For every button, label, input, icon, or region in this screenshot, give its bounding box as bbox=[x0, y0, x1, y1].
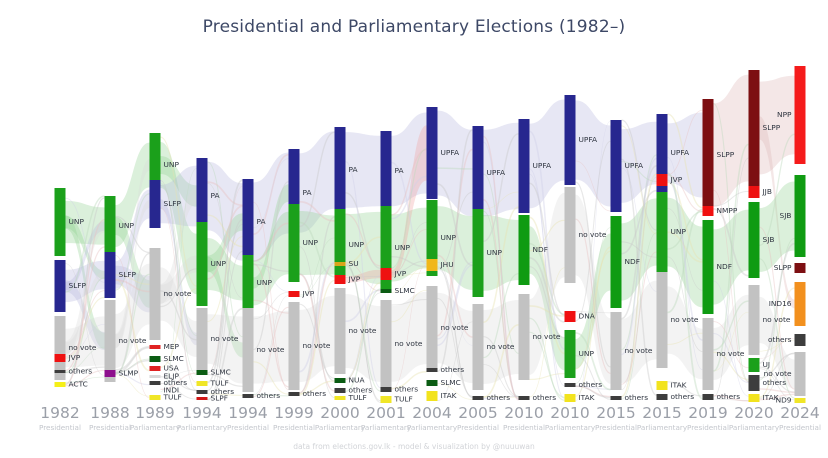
sankey-node-label: SJB bbox=[763, 235, 775, 244]
sankey-node-rect[interactable] bbox=[55, 370, 66, 373]
sankey-node-label: no vote bbox=[441, 323, 469, 332]
sankey-node[interactable]: others bbox=[565, 380, 603, 389]
sankey-node-label: JVP bbox=[348, 275, 361, 284]
sankey-node-label: UPFA bbox=[671, 148, 690, 157]
axis-tick-year: 2024 bbox=[779, 404, 821, 422]
sankey-node[interactable]: others bbox=[473, 393, 511, 402]
sankey-node-rect[interactable] bbox=[150, 248, 161, 340]
axis-tick-type: Presidential bbox=[89, 422, 131, 433]
axis-tick: 2010Parliamentary bbox=[545, 404, 595, 433]
sankey-node[interactable]: ACTC bbox=[55, 380, 88, 389]
sankey-node[interactable]: JVP bbox=[335, 275, 361, 285]
sankey-node-rect[interactable] bbox=[519, 294, 530, 380]
sankey-node-rect[interactable] bbox=[611, 120, 622, 212]
sankey-node-label: UNP bbox=[257, 278, 273, 287]
sankey-node-label: no vote bbox=[763, 315, 791, 324]
sankey-link bbox=[576, 100, 611, 206]
sankey-node-rect[interactable] bbox=[243, 394, 254, 398]
sankey-node-rect[interactable] bbox=[703, 206, 714, 216]
sankey-node-rect[interactable] bbox=[289, 291, 300, 297]
axis-tick-type: Parliamentary bbox=[177, 422, 227, 433]
sankey-node-rect[interactable] bbox=[749, 375, 760, 391]
axis-tick: 1994Presidential bbox=[227, 404, 269, 433]
sankey-node-rect[interactable] bbox=[197, 397, 208, 400]
sankey-node[interactable]: ITAK bbox=[657, 381, 687, 391]
sankey-node-label: UPFA bbox=[487, 168, 506, 177]
sankey-node-label: UNP bbox=[487, 248, 503, 257]
sankey-node-label: others bbox=[69, 367, 93, 376]
sankey-node[interactable]: SLMC bbox=[427, 378, 461, 387]
sankey-node-rect[interactable] bbox=[381, 387, 392, 392]
sankey-node-label: ITAK bbox=[441, 391, 457, 400]
sankey-node-rect[interactable] bbox=[565, 187, 576, 283]
sankey-node-label: no vote bbox=[671, 315, 699, 324]
sankey-node-label: PA bbox=[303, 188, 312, 197]
sankey-node-label: SLMC bbox=[441, 378, 461, 387]
sankey-node-label: UJ bbox=[763, 360, 771, 369]
axis-tick: 2001Parliamentary bbox=[361, 404, 411, 433]
sankey-link bbox=[714, 75, 749, 207]
axis-tick-year: 2000 bbox=[315, 404, 365, 422]
sankey-node-rect[interactable] bbox=[381, 300, 392, 388]
sankey-node-rect[interactable] bbox=[335, 378, 346, 383]
axis-tick: 2004Parliamentary bbox=[407, 404, 457, 433]
sankey-node[interactable]: TULF bbox=[335, 393, 367, 402]
sankey-node-rect[interactable] bbox=[150, 375, 161, 378]
sankey-node[interactable]: TULF bbox=[150, 393, 182, 402]
sankey-node-label: SLPP bbox=[717, 150, 735, 159]
sankey-node-label: no vote bbox=[257, 345, 285, 354]
sankey-node-rect[interactable] bbox=[243, 255, 254, 311]
axis-tick: 1982Presidential bbox=[39, 404, 81, 433]
sankey-node-label: UPFA bbox=[533, 161, 552, 170]
sankey-node-label: no vote bbox=[487, 342, 515, 351]
axis-tick-type: Presidential bbox=[595, 422, 637, 433]
sankey-node-rect[interactable] bbox=[381, 268, 392, 280]
sankey-node-rect[interactable] bbox=[55, 382, 66, 387]
sankey-node-rect[interactable] bbox=[335, 388, 346, 393]
sankey-node[interactable]: ITAK bbox=[565, 393, 595, 402]
sankey-node-label: NPP bbox=[777, 110, 792, 119]
sankey-node-rect[interactable] bbox=[150, 356, 161, 362]
sankey-node-label: others bbox=[487, 393, 511, 402]
sankey-node-rect[interactable] bbox=[749, 285, 760, 355]
sankey-node-label: MEP bbox=[164, 342, 180, 351]
sankey-node[interactable]: TULF bbox=[381, 395, 413, 404]
sankey-node-label: PA bbox=[395, 166, 404, 175]
sankey-node[interactable]: others bbox=[611, 393, 649, 402]
axis-tick: 2005Presidential bbox=[457, 404, 499, 433]
sankey-node-rect[interactable] bbox=[657, 272, 668, 368]
sankey-node-rect[interactable] bbox=[703, 318, 714, 390]
sankey-node-label: ITAK bbox=[579, 393, 595, 402]
sankey-node-rect[interactable] bbox=[795, 352, 806, 396]
axis-tick-type: Presidential bbox=[273, 422, 315, 433]
sankey-node-rect[interactable] bbox=[565, 383, 576, 387]
sankey-node-rect[interactable] bbox=[427, 391, 438, 401]
sankey-node-rect[interactable] bbox=[611, 216, 622, 308]
sankey-node-label: SLMC bbox=[395, 286, 415, 295]
sankey-node-rect[interactable] bbox=[105, 196, 116, 256]
sankey-node-rect[interactable] bbox=[243, 179, 254, 265]
sankey-node-rect[interactable] bbox=[289, 302, 300, 390]
sankey-node-rect[interactable] bbox=[657, 394, 668, 400]
axis-tick: 1989Parliamentary bbox=[130, 404, 180, 433]
sankey-node[interactable]: others bbox=[657, 392, 695, 401]
axis-tick-type: Presidential bbox=[457, 422, 499, 433]
axis-tick-year: 2005 bbox=[457, 404, 499, 422]
sankey-node-label: no vote bbox=[395, 339, 423, 348]
sankey-node-label: UNP bbox=[119, 221, 135, 230]
sankey-node-rect[interactable] bbox=[749, 202, 760, 278]
sankey-node-label: SLMP bbox=[119, 369, 139, 378]
axis-tick: 2024Presidential bbox=[779, 404, 821, 433]
axis-tick-type: Presidential bbox=[503, 422, 545, 433]
sankey-node-label: PA bbox=[257, 217, 266, 226]
axis-tick-type: Parliamentary bbox=[315, 422, 365, 433]
axis-tick-type: Parliamentary bbox=[407, 422, 457, 433]
axis-tick-type: Parliamentary bbox=[130, 422, 180, 433]
sankey-node-label: no vote bbox=[533, 332, 561, 341]
sankey-node-label: JVP bbox=[670, 175, 683, 184]
sankey-node-rect[interactable] bbox=[335, 127, 346, 213]
axis-tick: 2010Presidential bbox=[503, 404, 545, 433]
sankey-node-rect[interactable] bbox=[150, 389, 161, 392]
sankey-node-rect[interactable] bbox=[565, 311, 576, 322]
sankey-node-rect[interactable] bbox=[611, 396, 622, 400]
sankey-node-rect[interactable] bbox=[197, 308, 208, 370]
axis-tick-year: 2015 bbox=[595, 404, 637, 422]
sankey-node-label: others bbox=[763, 378, 787, 387]
sankey-node-rect[interactable] bbox=[381, 289, 392, 293]
axis-tick: 2020Parliamentary bbox=[729, 404, 779, 433]
sankey-node-label: no vote bbox=[69, 343, 97, 352]
sankey-node-label: SU bbox=[349, 259, 359, 268]
sankey-node-rect[interactable] bbox=[197, 390, 208, 394]
sankey-node-rect[interactable] bbox=[197, 370, 208, 375]
sankey-node-rect[interactable] bbox=[55, 188, 66, 256]
sankey-node-label: NMPP bbox=[717, 206, 738, 215]
axis-tick: 2000Parliamentary bbox=[315, 404, 365, 433]
sankey-node-label: DNA bbox=[579, 312, 595, 321]
sankey-node-rect[interactable] bbox=[611, 312, 622, 390]
sankey-node[interactable]: JVP bbox=[289, 289, 315, 298]
sankey-node-label: UNP bbox=[69, 217, 85, 226]
sankey-node-rect[interactable] bbox=[427, 368, 438, 372]
sankey-node[interactable]: DNA bbox=[565, 311, 595, 322]
axis-tick-year: 2019 bbox=[687, 404, 729, 422]
sankey-node-label: JJB bbox=[762, 187, 772, 196]
axis-tick-year: 1982 bbox=[39, 404, 81, 422]
sankey-node-label: NUA bbox=[349, 376, 365, 385]
sankey-node-rect[interactable] bbox=[335, 262, 346, 266]
sankey-link bbox=[530, 100, 565, 209]
sankey-node[interactable]: ITAK bbox=[749, 393, 779, 402]
axis-tick-year: 2020 bbox=[729, 404, 779, 422]
axis-tick: 1994Parliamentary bbox=[177, 404, 227, 433]
sankey-node-label: others bbox=[533, 393, 557, 402]
axis-tick-type: Presidential bbox=[227, 422, 269, 433]
axis-tick-year: 2001 bbox=[361, 404, 411, 422]
axis-tick-year: 2010 bbox=[545, 404, 595, 422]
axis-tick: 2015Parliamentary bbox=[637, 404, 687, 433]
sankey-node-label: others bbox=[303, 389, 327, 398]
sankey-node-label: others bbox=[395, 385, 419, 394]
sankey-node-label: others bbox=[625, 393, 649, 402]
sankey-node-label: SLPF bbox=[211, 394, 229, 403]
sankey-node-label: others bbox=[441, 365, 465, 374]
sankey-node-rect[interactable] bbox=[795, 398, 806, 403]
sankey-node-rect[interactable] bbox=[795, 66, 806, 164]
sankey-node-rect[interactable] bbox=[519, 396, 530, 400]
sankey-node-rect[interactable] bbox=[150, 180, 161, 228]
sankey-node-label: UNP bbox=[579, 349, 595, 358]
sankey-node-rect[interactable] bbox=[657, 192, 668, 272]
sankey-node-rect[interactable] bbox=[105, 252, 116, 298]
sankey-node-label: UPFA bbox=[625, 161, 644, 170]
sankey-node-label: ACTC bbox=[69, 380, 88, 389]
sankey-node-label: UNP bbox=[303, 238, 319, 247]
sankey-node-label: no vote bbox=[764, 369, 792, 378]
sankey-node-rect[interactable] bbox=[473, 126, 484, 220]
sankey-node-label: UNP bbox=[349, 240, 365, 249]
axis-tick: 1988Presidential bbox=[89, 404, 131, 433]
axis-tick-year: 1994 bbox=[177, 404, 227, 422]
axis-tick: 1999Presidential bbox=[273, 404, 315, 433]
sankey-node-label: no vote bbox=[164, 289, 192, 298]
sankey-node-label: SLPP bbox=[774, 263, 792, 272]
sankey-node-rect[interactable] bbox=[703, 99, 714, 211]
sankey-node-label: JHU bbox=[440, 260, 454, 269]
axis-tick-type: Presidential bbox=[779, 422, 821, 433]
sankey-node-label: SLMC bbox=[211, 368, 231, 377]
sankey-node-rect[interactable] bbox=[519, 215, 530, 285]
sankey-node-rect[interactable] bbox=[795, 334, 806, 346]
axis-tick-year: 2004 bbox=[407, 404, 457, 422]
sankey-node-rect[interactable] bbox=[427, 380, 438, 386]
sankey-node-rect[interactable] bbox=[243, 308, 254, 392]
sankey-node-label: no vote bbox=[579, 230, 607, 239]
sankey-node-label: others bbox=[579, 380, 603, 389]
sankey-node-label: TULF bbox=[348, 393, 367, 402]
sankey-node-rect[interactable] bbox=[289, 204, 300, 282]
sankey-node-label: UNP bbox=[441, 233, 457, 242]
sankey-node[interactable]: JVP bbox=[55, 353, 81, 362]
sankey-node-label: TULF bbox=[163, 393, 182, 402]
sankey-node-rect[interactable] bbox=[473, 396, 484, 400]
sankey-node[interactable]: others bbox=[703, 392, 741, 401]
sankey-node-rect[interactable] bbox=[289, 392, 300, 396]
sankey-node-label: NDF bbox=[717, 262, 732, 271]
sankey-node-rect[interactable] bbox=[427, 107, 438, 199]
sankey-node-label: UNP bbox=[395, 243, 411, 252]
sankey-node[interactable]: MEP bbox=[150, 342, 180, 351]
sankey-node-rect[interactable] bbox=[473, 304, 484, 390]
sankey-node-rect[interactable] bbox=[105, 300, 116, 382]
sankey-node-label: ITAK bbox=[671, 381, 687, 390]
axis-tick-type: Presidential bbox=[39, 422, 81, 433]
sankey-node-label: others bbox=[257, 391, 281, 400]
page-title: Presidential and Parliamentary Elections… bbox=[0, 17, 828, 37]
sankey-node-rect[interactable] bbox=[749, 186, 760, 198]
axis-tick-year: 1994 bbox=[227, 404, 269, 422]
sankey-node-rect[interactable] bbox=[795, 282, 806, 326]
sankey-node-rect[interactable] bbox=[105, 370, 116, 377]
sankey-node-label: no vote bbox=[303, 341, 331, 350]
sankey-node-label: SLFP bbox=[119, 270, 137, 279]
sankey-node-rect[interactable] bbox=[427, 259, 438, 271]
sankey-node-label: JVP bbox=[68, 353, 81, 362]
axis-tick-year: 1989 bbox=[130, 404, 180, 422]
sankey-node-rect[interactable] bbox=[381, 131, 392, 211]
sankey-node[interactable]: others bbox=[519, 393, 557, 402]
sankey-node-label: JVP bbox=[302, 289, 315, 298]
source-note: data from elections.gov.lk - model & vis… bbox=[0, 442, 828, 451]
sankey-node-label: no vote bbox=[717, 349, 745, 358]
sankey-node-rect[interactable] bbox=[150, 395, 161, 400]
sankey-node-label: UNP bbox=[211, 259, 227, 268]
sankey-node-label: SLPP bbox=[763, 123, 781, 132]
axis-tick-type: Parliamentary bbox=[729, 422, 779, 433]
sankey-node-label: others bbox=[768, 335, 792, 344]
axis-tick-year: 1988 bbox=[89, 404, 131, 422]
sankey-node-label: no vote bbox=[625, 346, 653, 355]
sankey-node-label: IND16 bbox=[769, 299, 792, 308]
sankey-node[interactable]: others bbox=[243, 391, 281, 400]
axis-tick-year: 2010 bbox=[503, 404, 545, 422]
sankey-node-label: UNP bbox=[164, 160, 180, 169]
sankey-node-label: TULF bbox=[394, 395, 413, 404]
sankey-diagram: UNPSLFPno voteJVPothersACTCUNPSLFPno vot… bbox=[0, 55, 828, 405]
sankey-node-label: PA bbox=[349, 165, 358, 174]
sankey-node[interactable]: others bbox=[289, 389, 327, 398]
sankey-node-label: no vote bbox=[349, 326, 377, 335]
sankey-node-label: UPFA bbox=[441, 148, 460, 157]
sankey-node-rect[interactable] bbox=[749, 358, 760, 372]
sankey-node-rect[interactable] bbox=[197, 222, 208, 306]
sankey-node-rect[interactable] bbox=[565, 394, 576, 402]
sankey-node-rect[interactable] bbox=[55, 260, 66, 312]
sankey-node-label: PA bbox=[211, 191, 220, 200]
axis-tick-type: Parliamentary bbox=[637, 422, 687, 433]
sankey-node-label: SLFP bbox=[69, 281, 87, 290]
sankey-link-minor bbox=[438, 168, 473, 169]
sankey-node-rect[interactable] bbox=[795, 263, 806, 273]
axis-tick: 2019Presidential bbox=[687, 404, 729, 433]
sankey-node-label: others bbox=[717, 392, 741, 401]
sankey-node-rect[interactable] bbox=[657, 174, 668, 186]
sankey-node-rect[interactable] bbox=[335, 396, 346, 400]
sankey-node-label: JVP bbox=[394, 269, 407, 278]
axis-tick-type: Parliamentary bbox=[361, 422, 411, 433]
sankey-node-label: others bbox=[671, 392, 695, 401]
sankey-node[interactable]: NMPP bbox=[703, 206, 738, 216]
sankey-node-label: SLFP bbox=[164, 199, 182, 208]
sankey-node-label: SJB bbox=[780, 211, 792, 220]
sankey-node-rect[interactable] bbox=[427, 286, 438, 370]
sankey-node-label: NDF bbox=[625, 257, 640, 266]
sankey-link bbox=[438, 111, 473, 217]
sankey-node-rect[interactable] bbox=[749, 394, 760, 402]
sankey-node-rect[interactable] bbox=[565, 330, 576, 378]
sankey-node-label: SLMC bbox=[164, 354, 184, 363]
sankey-node-rect[interactable] bbox=[473, 209, 484, 297]
sankey-node[interactable]: ITAK bbox=[427, 391, 457, 401]
sankey-node-rect[interactable] bbox=[795, 175, 806, 257]
sankey-node-rect[interactable] bbox=[55, 354, 66, 362]
sankey-node[interactable]: SLPP bbox=[774, 263, 806, 273]
sankey-node-rect[interactable] bbox=[657, 381, 668, 390]
sankey-node-rect[interactable] bbox=[197, 381, 208, 386]
sankey-node-rect[interactable] bbox=[335, 209, 346, 281]
sankey-page: Presidential and Parliamentary Elections… bbox=[0, 0, 828, 458]
sankey-node[interactable]: SLPF bbox=[197, 394, 229, 403]
axis-tick-type: Presidential bbox=[687, 422, 729, 433]
axis-tick-type: Parliamentary bbox=[545, 422, 595, 433]
election-axis: 1982Presidential1988Presidential1989Parl… bbox=[0, 404, 828, 440]
sankey-node-rect[interactable] bbox=[150, 366, 161, 371]
sankey-node-rect[interactable] bbox=[519, 119, 530, 213]
sankey-node-label: UNP bbox=[671, 227, 687, 236]
sankey-node-label: no vote bbox=[211, 334, 239, 343]
axis-tick-year: 1999 bbox=[273, 404, 315, 422]
sankey-node-label: no vote bbox=[119, 336, 147, 345]
sankey-node-rect[interactable] bbox=[335, 288, 346, 374]
sankey-node[interactable]: NUA bbox=[335, 376, 365, 385]
sankey-node-label: NDF bbox=[533, 245, 548, 254]
sankey-node[interactable]: SLMC bbox=[150, 354, 184, 363]
sankey-node-rect[interactable] bbox=[150, 381, 161, 385]
sankey-node-rect[interactable] bbox=[703, 220, 714, 314]
sankey-node-rect[interactable] bbox=[381, 396, 392, 403]
sankey-node-rect[interactable] bbox=[565, 95, 576, 185]
sankey-node-rect[interactable] bbox=[150, 345, 161, 349]
sankey-node-label: UPFA bbox=[579, 135, 598, 144]
axis-tick: 2015Presidential bbox=[595, 404, 637, 433]
sankey-node-rect[interactable] bbox=[749, 70, 760, 186]
sankey-node-rect[interactable] bbox=[703, 394, 714, 400]
sankey-node-rect[interactable] bbox=[335, 275, 346, 284]
axis-tick-year: 2015 bbox=[637, 404, 687, 422]
sankey-node[interactable]: JJB bbox=[749, 186, 772, 198]
